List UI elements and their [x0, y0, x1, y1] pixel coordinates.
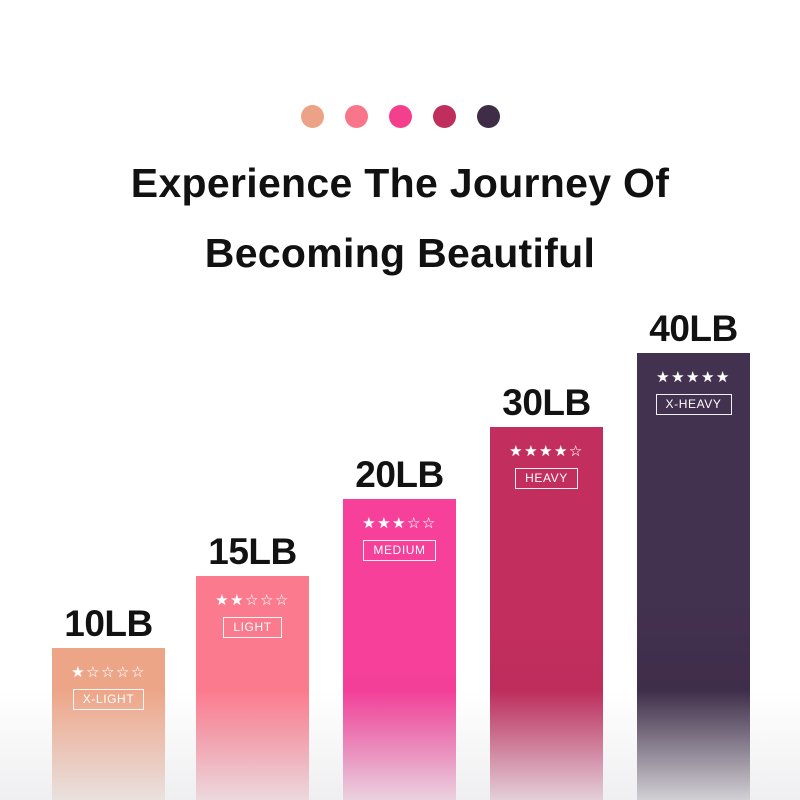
- resistance-level-badge: LIGHT: [223, 617, 281, 638]
- bar-value-label: 10LB: [64, 605, 152, 642]
- resistance-level-badge: X-HEAVY: [656, 394, 732, 415]
- star-rating-icon: ★★☆☆☆: [215, 593, 290, 608]
- star-rating-icon: ★☆☆☆☆: [71, 665, 146, 680]
- resistance-level-badge: MEDIUM: [363, 540, 435, 561]
- bar-value-label: 30LB: [502, 384, 590, 421]
- resistance-level-bar-chart: 10LB★☆☆☆☆X-LIGHT15LB★★☆☆☆LIGHT20LB★★★☆☆M…: [0, 0, 800, 800]
- bar-heavy: ★★★★☆HEAVY: [490, 427, 603, 800]
- bar-light: ★★☆☆☆LIGHT: [196, 576, 309, 800]
- bar-group-x-heavy: 40LB★★★★★X-HEAVY: [637, 353, 750, 800]
- bar-group-heavy: 30LB★★★★☆HEAVY: [490, 427, 603, 800]
- bar-group-light: 15LB★★☆☆☆LIGHT: [196, 576, 309, 800]
- bar-value-label: 15LB: [208, 533, 296, 570]
- star-rating-icon: ★★★☆☆: [362, 516, 437, 531]
- star-rating-icon: ★★★★★: [656, 370, 731, 385]
- infographic-canvas: Experience The Journey Of Becoming Beaut…: [0, 0, 800, 800]
- bar-value-label: 20LB: [355, 456, 443, 493]
- bar-group-medium: 20LB★★★☆☆MEDIUM: [343, 499, 456, 800]
- resistance-level-badge: HEAVY: [515, 468, 578, 489]
- bar-x-heavy: ★★★★★X-HEAVY: [637, 353, 750, 800]
- bar-medium: ★★★☆☆MEDIUM: [343, 499, 456, 800]
- bar-group-x-light: 10LB★☆☆☆☆X-LIGHT: [52, 648, 165, 800]
- star-rating-icon: ★★★★☆: [509, 444, 584, 459]
- bar-x-light: ★☆☆☆☆X-LIGHT: [52, 648, 165, 800]
- resistance-level-badge: X-LIGHT: [73, 689, 145, 710]
- bar-value-label: 40LB: [649, 310, 737, 347]
